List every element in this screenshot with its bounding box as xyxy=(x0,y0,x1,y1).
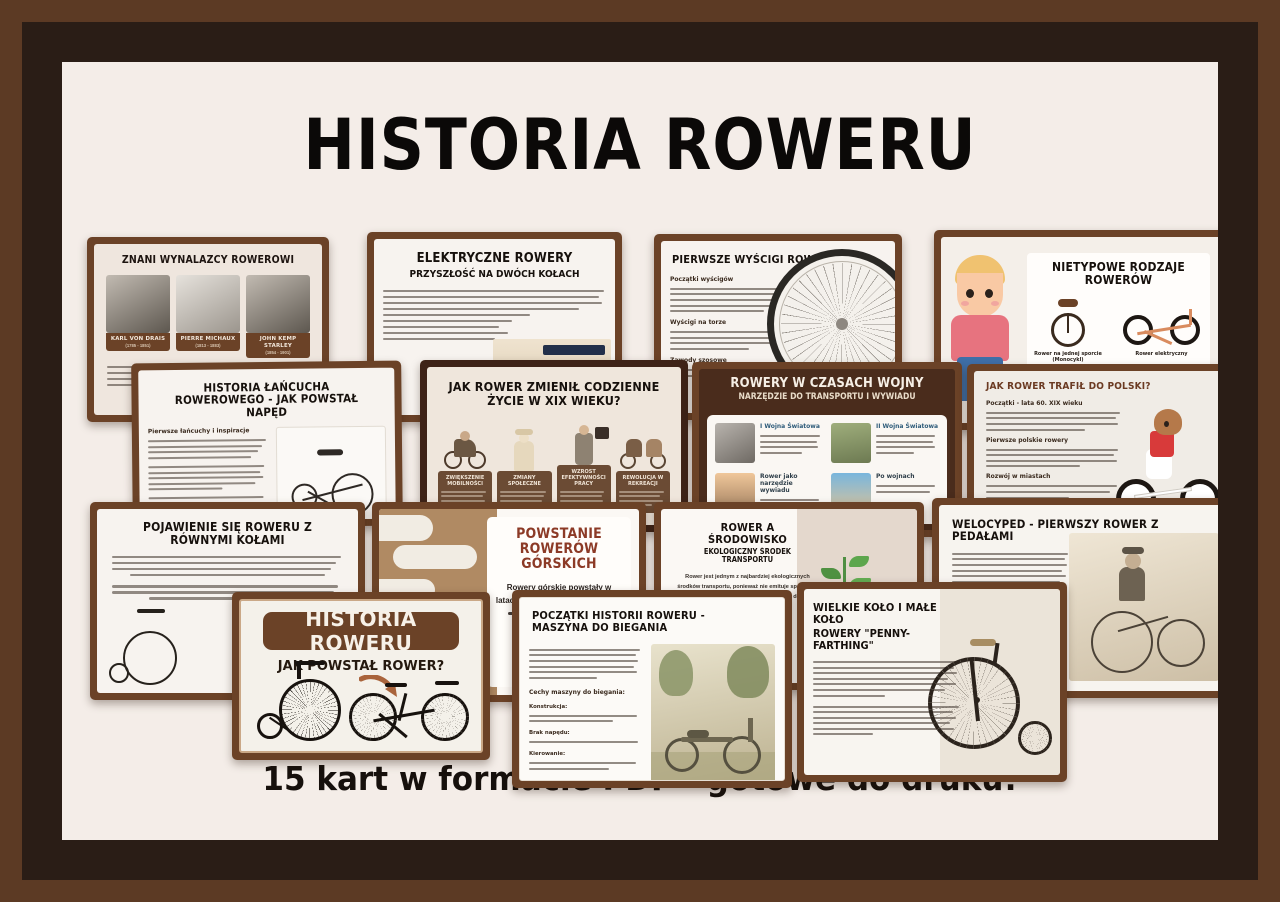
inventor-name: KARL VON DRAIS xyxy=(107,336,169,343)
card-penny-farthing[interactable]: WIELKIE KOŁO I MAŁE KOŁO ROWERY "PENNY-F… xyxy=(797,582,1067,782)
card-text-block xyxy=(986,412,1124,431)
inventor-years: (1813 - 1883) xyxy=(177,343,239,348)
card-body: HISTORIA ŁAŃCUCHA ROWEROWEGO - JAK POWST… xyxy=(138,368,396,522)
page-title: HISTORIA ROWERU xyxy=(131,110,1148,180)
ebike-icon xyxy=(1119,299,1204,347)
card-text-block xyxy=(529,762,643,770)
card-title: HISTORIA ŁAŃCUCHA ROWEROWEGO - JAK POWST… xyxy=(159,380,374,419)
draisine-running-machine-drawing xyxy=(651,644,775,781)
card-text-block xyxy=(986,485,1124,498)
card-title: WIELKIE KOŁO I MAŁE KOŁO xyxy=(813,602,948,626)
inventor-portrait xyxy=(246,275,310,333)
section-heading: Brak napędu: xyxy=(529,730,643,736)
card-title: ROWER A ŚRODOWISKO xyxy=(681,522,813,546)
card-text-block xyxy=(148,465,268,491)
card-text-block xyxy=(383,290,606,340)
inventor-name: PIERRE MICHAUX xyxy=(177,336,239,343)
card-title: POWSTANIE ROWERÓW GÓRSKICH xyxy=(501,527,616,572)
cyclist-woman-illustration xyxy=(438,425,492,471)
card-title: JAK ROWER TRAFIŁ DO POLSKI? xyxy=(986,382,1194,393)
card-text-block xyxy=(986,449,1124,468)
card-text-block xyxy=(529,649,643,679)
card-cover-historia-roweru[interactable]: HISTORIA ROWERU JAK POWSTAŁ ROWER? xyxy=(232,592,490,760)
card-title: ELEKTRYCZNE ROWERY xyxy=(394,252,595,266)
cover-title: HISTORIA ROWERU xyxy=(263,607,459,655)
victorian-lady-illustration xyxy=(497,425,551,471)
card-text-block xyxy=(876,485,939,493)
section-heading: Cechy maszyny do biegania: xyxy=(529,689,643,696)
poster-outer-frame: HISTORIA ROWERU ZNANI WYNALAZCY ROWEROWI… xyxy=(0,0,1280,902)
card-body: POCZĄTKI HISTORII ROWERU - MASZYNA DO BI… xyxy=(519,597,785,781)
section-heading: Po wojnach xyxy=(876,473,939,480)
section-heading: Pierwsze polskie rowery xyxy=(986,437,1124,444)
impact-chip-label: WZROST EFEKTYWNOŚCI PRACY xyxy=(560,469,608,487)
penny-farthing-bicycle xyxy=(257,661,345,743)
velocipede-rider-photo xyxy=(1069,533,1218,681)
card-title: POCZĄTKI HISTORII ROWERU - MASZYNA DO BI… xyxy=(532,610,751,634)
section-heading: Początki - lata 60. XIX wieku xyxy=(986,400,1124,407)
impact-chip-label: ZMIANY SPOŁECZNE xyxy=(500,475,548,487)
card-subtitle: EKOLOGICZNY ŚRODEK TRANSPORTU xyxy=(681,548,813,565)
card-text-block xyxy=(106,556,349,576)
wwi-photo xyxy=(715,423,755,463)
card-subtitle: NARZĘDZIE DO TRANSPORTU I WYWIADU xyxy=(721,393,933,402)
cover-title-badge: HISTORIA ROWERU xyxy=(263,612,459,650)
inventor-portrait xyxy=(176,275,240,333)
section-heading: II Wojna Światowa xyxy=(876,423,939,430)
section-heading: I Wojna Światowa xyxy=(760,423,823,430)
card-text-block xyxy=(148,439,268,459)
card-title: POJAWIENIE SIĘ ROWERU Z RÓWNYMI KOŁAMI xyxy=(118,521,337,547)
poster-inner-frame: HISTORIA ROWERU ZNANI WYNALAZCY ROWEROWI… xyxy=(22,22,1258,880)
section-heading: Rower jako narzędzie wywiadu xyxy=(760,473,823,494)
wwii-photo xyxy=(831,423,871,463)
card-poczatki-historii-roweru[interactable]: POCZĄTKI HISTORII ROWERU - MASZYNA DO BI… xyxy=(512,590,792,788)
section-heading: Konstrukcja: xyxy=(529,704,643,710)
card-subtitle: PRZYSZŁOŚĆ NA DWÓCH KOŁACH xyxy=(394,269,595,280)
worker-illustration xyxy=(557,419,611,465)
card-text-block xyxy=(876,435,939,454)
impact-chip-label: ZWIĘKSZENIE MOBILNOŚCI xyxy=(441,475,489,487)
card-text-block xyxy=(529,741,643,743)
card-body: HISTORIA ROWERU JAK POWSTAŁ ROWER? xyxy=(239,599,483,753)
card-title: NIETYPOWE RODZAJE ROWERÓW xyxy=(1042,261,1196,287)
card-title: ZNANI WYNALAZCY ROWEROWI xyxy=(114,255,303,266)
inventor-name: JOHN KEMP STARLEY xyxy=(247,336,309,350)
poster-content-area: HISTORIA ROWERU ZNANI WYNALAZCY ROWEROWI… xyxy=(62,62,1218,840)
card-text-block xyxy=(760,435,823,454)
inventor-years: (1785 - 1851) xyxy=(107,343,169,348)
penny-farthing-illustration xyxy=(924,639,1054,765)
modern-road-bicycle xyxy=(349,677,469,741)
card-title: JAK ROWER ZMIENIŁ CODZIENNE ŻYCIE W XIX … xyxy=(448,380,660,407)
impact-chip-label: REWOLUCJA W REKREACJI xyxy=(619,475,667,487)
bike-type-label: Rower na jednej sporcie (Monocykl) xyxy=(1033,351,1103,363)
card-title: ROWERY W CZASACH WOJNY xyxy=(721,377,933,391)
inventor-portrait xyxy=(106,275,170,333)
section-heading: Pierwsze łańcuchy i inspiracje xyxy=(148,427,268,435)
couple-cycling-illustration xyxy=(616,425,670,471)
card-text-block xyxy=(529,715,643,723)
card-body: WIELKIE KOŁO I MAŁE KOŁO ROWERY "PENNY-F… xyxy=(804,589,1060,775)
bike-type-label: Rower elektryczny xyxy=(1119,351,1204,357)
section-heading: Kierowanie: xyxy=(529,751,643,757)
unicycle-icon xyxy=(1033,299,1103,347)
inventor-years: (1854 - 1901) xyxy=(247,350,309,355)
section-heading: Rozwój w miastach xyxy=(986,473,1124,480)
